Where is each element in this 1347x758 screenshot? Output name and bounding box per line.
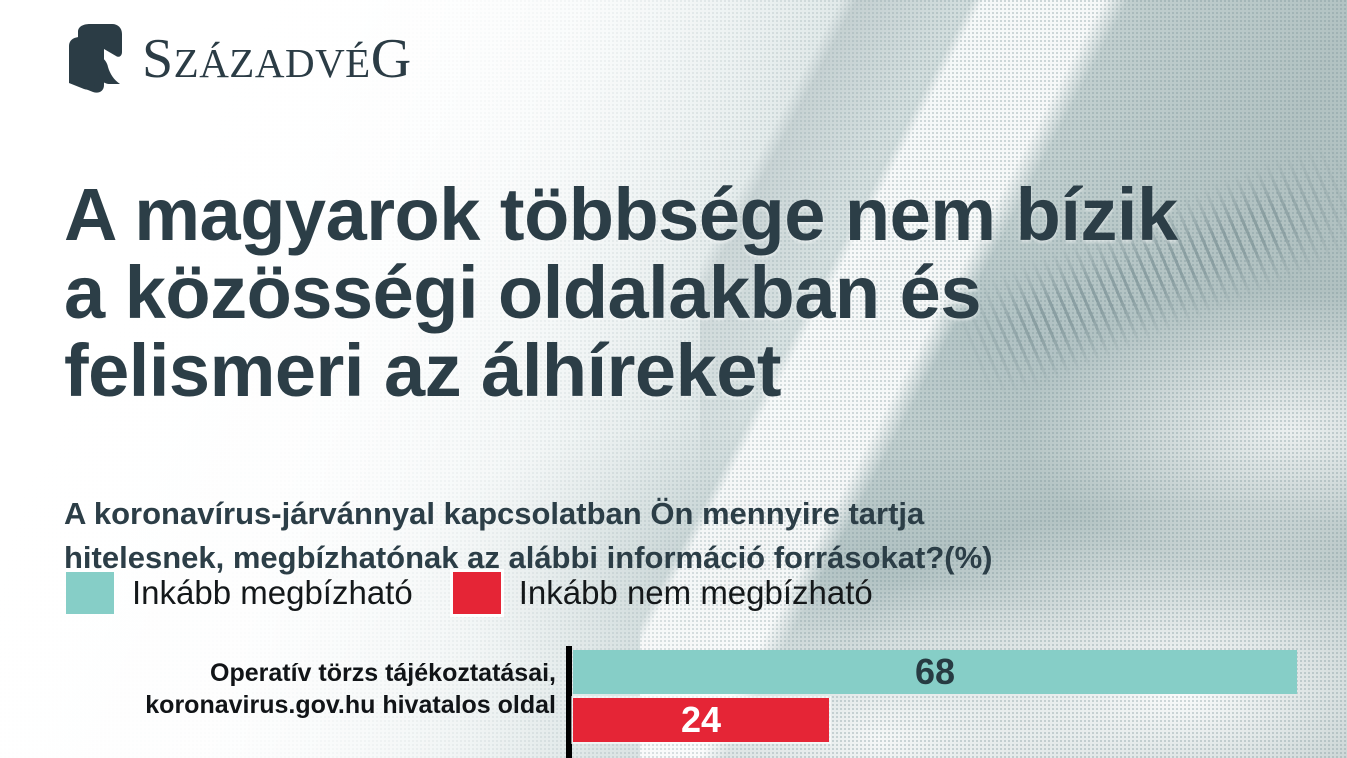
page-title-line-2: a közösségi oldalakban és — [64, 254, 1304, 332]
chart-category-label-line-2: koronavirus.gov.hu hivatalos oldal — [10, 690, 556, 722]
chart-category-label-line-1: Operatív törzs tájékoztatásai, — [10, 658, 556, 690]
survey-question: A koronavírus-járvánnyal kapcsolatban Ön… — [64, 492, 1304, 580]
brand-logo: SZÁZADVÉG — [66, 22, 412, 96]
brand-wordmark-cap-s: S — [142, 28, 174, 90]
page-title-line-1: A magyarok többsége nem bízik — [64, 176, 1304, 254]
legend-label-not-trustworthy: Inkább nem megbízható — [519, 574, 873, 612]
chart-axis-line — [566, 646, 572, 758]
bar-not-trustworthy[interactable]: 24 — [573, 698, 829, 742]
content-layer: SZÁZADVÉG A magyarok többsége nem bízik … — [0, 0, 1347, 758]
page-title: A magyarok többsége nem bízik a közösség… — [64, 176, 1304, 411]
bar-value-not-trustworthy: 24 — [681, 702, 721, 738]
legend-swatch-teal-icon — [66, 572, 114, 614]
legend-swatch-red-icon — [453, 572, 501, 614]
bar-trustworthy[interactable]: 68 — [573, 650, 1297, 694]
legend-label-trustworthy: Inkább megbízható — [132, 574, 413, 612]
infographic-canvas: SZÁZADVÉG A magyarok többsége nem bízik … — [0, 0, 1347, 758]
brand-wordmark-middle: ZÁZADVÉ — [174, 40, 371, 86]
brand-wordmark: SZÁZADVÉG — [142, 31, 412, 87]
legend-item-not-trustworthy[interactable]: Inkább nem megbízható — [453, 572, 873, 614]
chart-category-label: Operatív törzs tájékoztatásai, koronavir… — [10, 658, 556, 721]
page-title-line-3: felismeri az álhíreket — [64, 332, 1304, 410]
legend-item-trustworthy[interactable]: Inkább megbízható — [66, 572, 413, 614]
chart-legend: Inkább megbízható Inkább nem megbízható — [66, 572, 873, 614]
brand-wordmark-cap-g: G — [371, 28, 412, 90]
szazadveg-mark-icon — [66, 22, 128, 96]
bar-value-trustworthy: 68 — [915, 654, 955, 690]
survey-question-line-1: A koronavírus-járvánnyal kapcsolatban Ön… — [64, 492, 1304, 536]
